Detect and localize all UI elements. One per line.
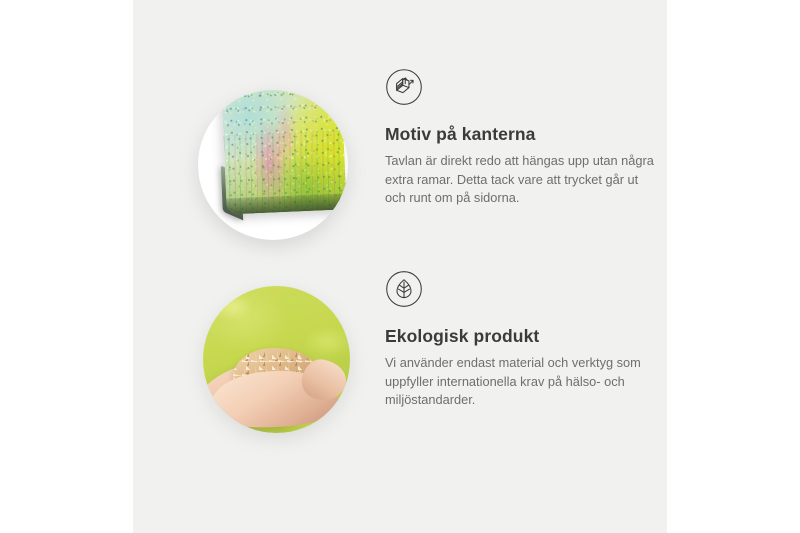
canvas-print-edge-photo <box>198 90 348 240</box>
feature-body-edges: Tavlan är direkt redo att hängas upp uta… <box>385 152 661 208</box>
feature-body-eco: Vi använder endast material och verktyg … <box>385 354 661 410</box>
feature-text-edges: Motiv på kanterna Tavlan är direkt redo … <box>385 68 667 208</box>
product-feature-infographic: Motiv på kanterna Tavlan är direkt redo … <box>0 0 800 533</box>
canvas-wrap-edges-icon <box>385 68 423 106</box>
canvas-print-face <box>221 90 346 215</box>
feature-title-eco: Ekologisk produkt <box>385 326 667 347</box>
content-panel: Motiv på kanterna Tavlan är direkt redo … <box>133 0 667 533</box>
feature-block-eco: Ekologisk produkt Vi använder endast mat… <box>133 258 667 458</box>
hands-holding-woodchips-photo <box>203 286 350 433</box>
feature-block-edges: Motiv på kanterna Tavlan är direkt redo … <box>133 60 667 260</box>
leaf-icon <box>385 270 423 308</box>
feature-text-eco: Ekologisk produkt Vi använder endast mat… <box>385 270 667 410</box>
feature-title-edges: Motiv på kanterna <box>385 124 667 145</box>
